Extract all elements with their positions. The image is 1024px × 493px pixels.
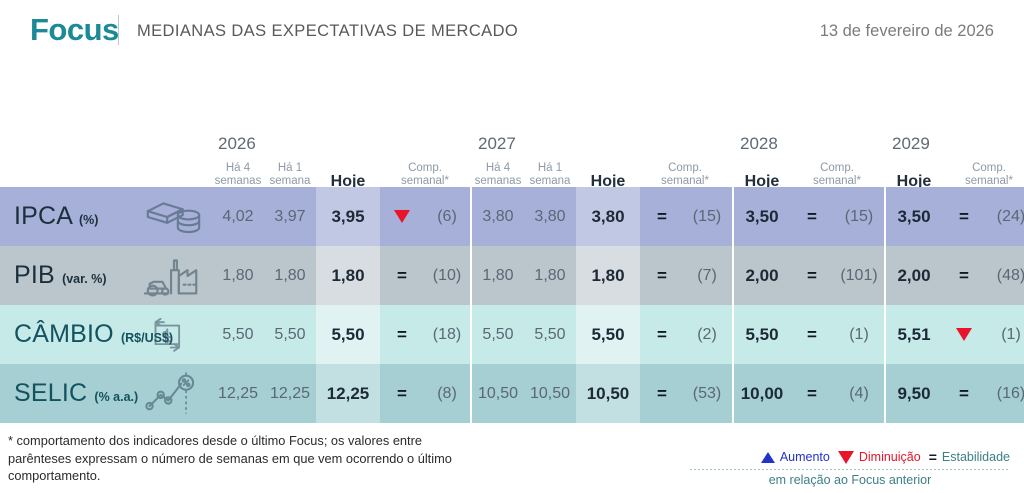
col-header-line1: Há 1 [538, 162, 562, 174]
col-header-4-weeks-ago: Há 4semanas [472, 162, 524, 187]
equals-icon: = [959, 267, 969, 284]
value-4-weeks-ago: 12,25 [212, 364, 264, 423]
value-today: 3,95 [316, 187, 380, 246]
arrow-down-icon [394, 210, 410, 223]
col-header-line2: semanal* [380, 175, 470, 188]
col-header-weekly-behavior: Comp.semanal* [942, 162, 1024, 187]
page-header: Focus MEDIANAS DAS EXPECTATIVAS DE MERCA… [0, 0, 1024, 60]
page-subtitle: MEDIANAS DAS EXPECTATIVAS DE MERCADO [137, 22, 518, 41]
table-row: CÂMBIO (R$/US$)5,505,505,50=(18)5,505,50… [0, 305, 1024, 364]
weeks-count: (4) [834, 364, 884, 423]
indicator-label-cell: CÂMBIO (R$/US$) [0, 305, 212, 364]
equals-icon: = [929, 450, 937, 464]
col-header-line1: Há 1 [278, 162, 302, 174]
year-header-2028: 2028 [740, 134, 778, 154]
col-header-weekly-behavior: Comp.semanal* [790, 162, 884, 187]
weeks-count: (16) [986, 364, 1024, 423]
col-header-line1: Comp. [972, 162, 1006, 174]
trend-indicator [942, 305, 986, 364]
expectations-table: 2026202720282029 Há 4semanasHá 1semanaHo… [0, 126, 1024, 423]
value-today: 2,00 [734, 246, 790, 305]
col-header-1-week-ago: Há 1semana [524, 162, 576, 187]
value-today: 2,00 [886, 246, 942, 305]
value-today: 10,50 [576, 364, 640, 423]
value-1-week-ago: 10,50 [524, 364, 576, 423]
header-divider [118, 15, 119, 45]
value-today: 3,80 [576, 187, 640, 246]
value-4-weeks-ago: 10,50 [472, 364, 524, 423]
equals-icon: = [807, 326, 817, 343]
indicator-title: SELIC [14, 379, 87, 407]
col-header-line1: Comp. [408, 162, 442, 174]
col-header-line1: Há 4 [486, 162, 510, 174]
footnote-text: * comportamento dos indicadores desde o … [8, 432, 478, 485]
value-1-week-ago: 3,80 [524, 187, 576, 246]
legend: Aumento Diminuição = Estabilidade em rel… [690, 450, 1010, 487]
report-date: 13 de fevereiro de 2026 [820, 22, 994, 41]
col-header-line2: semanas [472, 175, 524, 188]
table-row: PIB (var. %)1,801,801,80=(10)1,801,801,8… [0, 246, 1024, 305]
col-header-line2: semanas [212, 175, 264, 188]
equals-icon: = [807, 267, 817, 284]
equals-icon: = [657, 208, 667, 225]
indicator-name: SELIC (% a.a.) [0, 379, 138, 408]
indicator-label-cell: IPCA (%) [0, 187, 212, 246]
col-header-line2: semanal* [790, 175, 884, 188]
value-today: 1,80 [576, 246, 640, 305]
trend-indicator: = [380, 305, 424, 364]
value-today: 1,80 [316, 246, 380, 305]
weeks-count: (1) [986, 305, 1024, 364]
trend-indicator: = [942, 187, 986, 246]
col-header-line1: Comp. [668, 162, 702, 174]
value-4-weeks-ago: 1,80 [212, 246, 264, 305]
weeks-count: (8) [424, 364, 470, 423]
weeks-count: (15) [684, 187, 730, 246]
value-1-week-ago: 1,80 [524, 246, 576, 305]
legend-items: Aumento Diminuição = Estabilidade [690, 450, 1010, 464]
equals-icon: = [397, 385, 407, 402]
focus-logo: Focus [30, 12, 119, 48]
col-header-weekly-behavior: Comp.semanal* [640, 162, 730, 187]
currency-exchange-icon [142, 311, 204, 359]
year-block-separator [470, 187, 472, 423]
col-header-line2: semana [524, 175, 576, 188]
col-header-weekly-behavior: Comp.semanal* [380, 162, 470, 187]
indicator-name: PIB (var. %) [0, 261, 107, 290]
value-today: 9,50 [886, 364, 942, 423]
trend-indicator: = [380, 246, 424, 305]
trend-indicator: = [942, 246, 986, 305]
focus-bulletin-page: Focus MEDIANAS DAS EXPECTATIVAS DE MERCA… [0, 0, 1024, 493]
year-header-row: 2026202720282029 [0, 126, 1024, 156]
col-header-line2: semanal* [640, 175, 730, 188]
trend-indicator: = [640, 364, 684, 423]
legend-stability: = Estabilidade [929, 450, 1010, 464]
value-today: 5,50 [734, 305, 790, 364]
interest-rate-chart-icon [142, 370, 204, 418]
money-stack-icon [142, 193, 204, 241]
year-header-2029: 2029 [892, 134, 930, 154]
col-header-line1: Comp. [820, 162, 854, 174]
trend-indicator: = [790, 305, 834, 364]
year-block-separator [884, 187, 886, 423]
arrow-up-icon [761, 452, 775, 463]
value-4-weeks-ago: 5,50 [472, 305, 524, 364]
col-header-line2: semana [264, 175, 316, 188]
legend-increase: Aumento [761, 450, 830, 464]
equals-icon: = [397, 267, 407, 284]
table-row: IPCA (%)4,023,973,95(6)3,803,803,80=(15)… [0, 187, 1024, 246]
trend-indicator: = [380, 364, 424, 423]
equals-icon: = [397, 326, 407, 343]
weeks-count: (6) [424, 187, 470, 246]
weeks-count: (53) [684, 364, 730, 423]
weeks-count: (7) [684, 246, 730, 305]
equals-icon: = [959, 208, 969, 225]
factory-tractor-icon [142, 252, 204, 300]
value-today: 5,51 [886, 305, 942, 364]
trend-indicator: = [790, 246, 834, 305]
trend-indicator: = [790, 187, 834, 246]
value-1-week-ago: 1,80 [264, 246, 316, 305]
indicator-label-cell: SELIC (% a.a.) [0, 364, 212, 423]
col-header-line2: semanal* [942, 175, 1024, 188]
equals-icon: = [657, 267, 667, 284]
year-block-separator [732, 187, 734, 423]
indicator-unit: (% a.a.) [94, 390, 138, 404]
arrow-down-icon [956, 328, 972, 341]
indicator-title: CÂMBIO [14, 320, 114, 348]
indicator-title: PIB [14, 261, 55, 289]
value-4-weeks-ago: 5,50 [212, 305, 264, 364]
value-today: 5,50 [576, 305, 640, 364]
value-today: 12,25 [316, 364, 380, 423]
weeks-count: (101) [834, 246, 884, 305]
weeks-count: (18) [424, 305, 470, 364]
year-header-2026: 2026 [218, 134, 256, 154]
legend-stability-label: Estabilidade [942, 450, 1010, 464]
equals-icon: = [959, 385, 969, 402]
indicator-unit: (var. %) [62, 272, 106, 286]
year-header-2027: 2027 [478, 134, 516, 154]
indicator-unit: (%) [79, 213, 98, 227]
trend-indicator: = [942, 364, 986, 423]
weeks-count: (15) [834, 187, 884, 246]
trend-indicator: = [640, 187, 684, 246]
value-today: 3,50 [886, 187, 942, 246]
value-1-week-ago: 12,25 [264, 364, 316, 423]
indicator-name: IPCA (%) [0, 202, 98, 231]
value-today: 3,50 [734, 187, 790, 246]
legend-decrease: Diminuição [838, 450, 921, 464]
arrow-down-icon [838, 451, 854, 464]
weeks-count: (2) [684, 305, 730, 364]
col-header-1-week-ago: Há 1semana [264, 162, 316, 187]
equals-icon: = [657, 385, 667, 402]
legend-divider [690, 469, 1010, 470]
col-header-4-weeks-ago: Há 4semanas [212, 162, 264, 187]
weeks-count: (48) [986, 246, 1024, 305]
indicator-label-cell: PIB (var. %) [0, 246, 212, 305]
table-row: SELIC (% a.a.)12,2512,2512,25=(8)10,5010… [0, 364, 1024, 423]
trend-indicator: = [790, 364, 834, 423]
trend-indicator: = [640, 305, 684, 364]
trend-indicator: = [640, 246, 684, 305]
value-1-week-ago: 5,50 [264, 305, 316, 364]
col-header-line1: Há 4 [226, 162, 250, 174]
value-1-week-ago: 3,97 [264, 187, 316, 246]
value-today: 10,00 [734, 364, 790, 423]
legend-note: em relação ao Focus anterior [690, 473, 1010, 487]
weeks-count: (10) [424, 246, 470, 305]
table-body: IPCA (%)4,023,973,95(6)3,803,803,80=(15)… [0, 187, 1024, 423]
legend-decrease-label: Diminuição [859, 450, 921, 464]
weeks-count: (1) [834, 305, 884, 364]
indicator-title: IPCA [14, 202, 72, 230]
value-4-weeks-ago: 3,80 [472, 187, 524, 246]
equals-icon: = [657, 326, 667, 343]
value-1-week-ago: 5,50 [524, 305, 576, 364]
weeks-count: (24) [986, 187, 1024, 246]
trend-indicator [380, 187, 424, 246]
value-today: 5,50 [316, 305, 380, 364]
value-4-weeks-ago: 1,80 [472, 246, 524, 305]
equals-icon: = [807, 208, 817, 225]
column-header-row: Há 4semanasHá 1semanaHojeComp.semanal*Há… [0, 156, 1024, 187]
legend-increase-label: Aumento [780, 450, 830, 464]
value-4-weeks-ago: 4,02 [212, 187, 264, 246]
equals-icon: = [807, 385, 817, 402]
